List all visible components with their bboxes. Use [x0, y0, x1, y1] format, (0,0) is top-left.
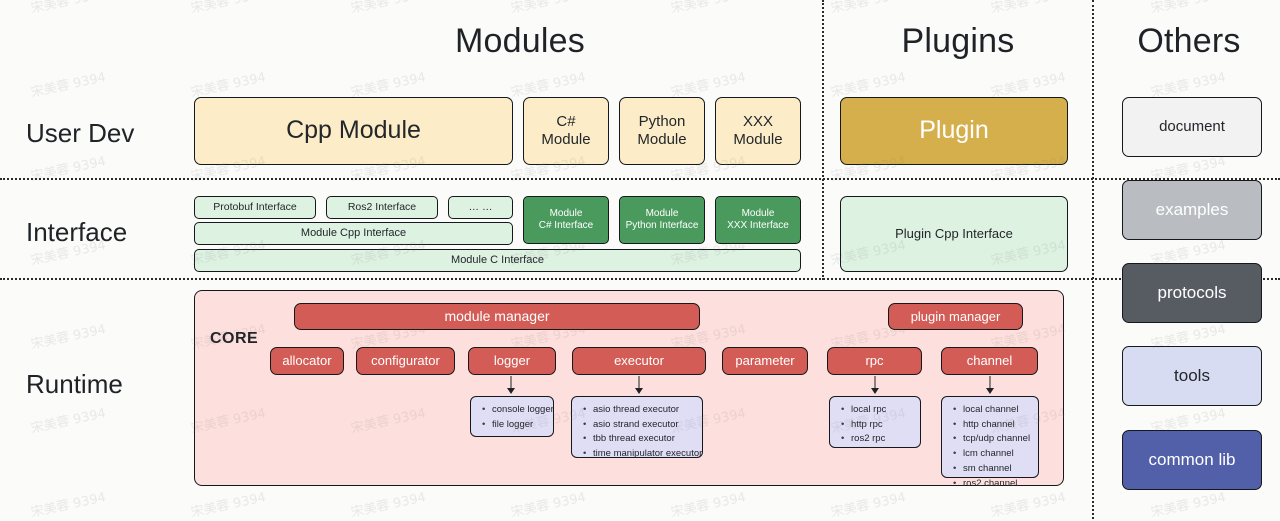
watermark-text: 宋美蓉 9394 [829, 66, 908, 100]
column-header-others: Others [1104, 22, 1274, 61]
watermark-text: 宋美蓉 9394 [349, 66, 428, 100]
watermark-text: 宋美蓉 9394 [189, 0, 268, 17]
row-label-interface: Interface [26, 217, 127, 248]
node-examples[interactable]: examples [1122, 180, 1262, 240]
watermark-text: 宋美蓉 9394 [29, 0, 108, 17]
list-logger-children: console loggerfile logger [470, 396, 554, 437]
node-plugin[interactable]: Plugin [840, 97, 1068, 165]
node-cpp-module[interactable]: Cpp Module [194, 97, 513, 165]
list-item: http channel [963, 418, 1030, 433]
watermark-text: 宋美蓉 9394 [509, 0, 588, 17]
list-item: console logger [492, 403, 545, 418]
node-configurator[interactable]: configurator [356, 347, 455, 375]
node-xxx-module[interactable]: XXX Module [715, 97, 801, 165]
list-item: lcm channel [963, 447, 1030, 462]
node-csharp-module[interactable]: C# Module [523, 97, 609, 165]
node-plugin-cpp-interface[interactable]: Plugin Cpp Interface [840, 196, 1068, 272]
column-header-plugins: Plugins [840, 22, 1076, 61]
list-item: asio thread executor [593, 403, 694, 418]
watermark-text: 宋美蓉 9394 [29, 486, 108, 520]
node-ros2-interface[interactable]: Ros2 Interface [326, 196, 438, 219]
node-plugin-manager[interactable]: plugin manager [888, 303, 1023, 330]
list-executor-children: asio thread executorasio strand executor… [571, 396, 703, 458]
watermark-text: 宋美蓉 9394 [669, 486, 748, 520]
node-rpc[interactable]: rpc [827, 347, 922, 375]
watermark-text: 宋美蓉 9394 [989, 486, 1068, 520]
node-python-module[interactable]: Python Module [619, 97, 705, 165]
list-item: ros2 rpc [851, 432, 912, 447]
watermark-text: 宋美蓉 9394 [1149, 66, 1228, 100]
list-rpc-children: local rpchttp rpcros2 rpc [829, 396, 921, 448]
list-item: tbb thread executor [593, 432, 694, 447]
watermark-text: 宋美蓉 9394 [829, 0, 908, 17]
node-module-cpp-interface[interactable]: Module Cpp Interface [194, 222, 513, 245]
node-document[interactable]: document [1122, 97, 1262, 157]
node-protobuf-interface[interactable]: Protobuf Interface [194, 196, 316, 219]
row-label-user-dev: User Dev [26, 118, 134, 149]
channel-children-list: local channelhttp channeltcp/udp channel… [950, 403, 1030, 491]
node-executor[interactable]: executor [572, 347, 706, 375]
list-item: time manipulator executor [593, 447, 694, 462]
list-channel-children: local channelhttp channeltcp/udp channel… [941, 396, 1039, 478]
node-protocols[interactable]: protocols [1122, 263, 1262, 323]
watermark-text: 宋美蓉 9394 [29, 318, 108, 352]
node-parameter[interactable]: parameter [722, 347, 808, 375]
list-item: local rpc [851, 403, 912, 418]
row-label-runtime: Runtime [26, 369, 123, 400]
watermark-text: 宋美蓉 9394 [509, 486, 588, 520]
watermark-text: 宋美蓉 9394 [29, 402, 108, 436]
watermark-text: 宋美蓉 9394 [189, 486, 268, 520]
watermark-text: 宋美蓉 9394 [1149, 0, 1228, 17]
node-more-interface[interactable]: … … [448, 196, 513, 219]
node-module-c-interface[interactable]: Module C Interface [194, 249, 801, 272]
executor-children-list: asio thread executorasio strand executor… [580, 403, 694, 462]
watermark-text: 宋美蓉 9394 [509, 66, 588, 100]
watermark-text: 宋美蓉 9394 [669, 66, 748, 100]
list-item: http rpc [851, 418, 912, 433]
diagram-canvas: 宋美蓉 9394宋美蓉 9394宋美蓉 9394宋美蓉 9394宋美蓉 9394… [0, 0, 1280, 519]
list-item: file logger [492, 418, 545, 433]
list-item: tcp/udp channel [963, 432, 1030, 447]
node-module-python-interface[interactable]: Module Python Interface [619, 196, 705, 244]
list-item: asio strand executor [593, 418, 694, 433]
divider-plugins-others [1092, 0, 1094, 519]
arrow-channel-down [981, 376, 999, 394]
rpc-children-list: local rpchttp rpcros2 rpc [838, 403, 912, 447]
divider-modules-plugins [822, 0, 824, 280]
logger-children-list: console loggerfile logger [479, 403, 545, 432]
watermark-text: 宋美蓉 9394 [349, 486, 428, 520]
arrow-executor-down [630, 376, 648, 394]
watermark-text: 宋美蓉 9394 [669, 0, 748, 17]
node-allocator[interactable]: allocator [270, 347, 344, 375]
node-tools[interactable]: tools [1122, 346, 1262, 406]
divider-userdev-interface [0, 178, 1280, 180]
watermark-text: 宋美蓉 9394 [1149, 486, 1228, 520]
watermark-text: 宋美蓉 9394 [829, 486, 908, 520]
watermark-text: 宋美蓉 9394 [349, 0, 428, 17]
divider-interface-runtime [0, 278, 1280, 280]
list-item: sm channel [963, 462, 1030, 477]
watermark-text: 宋美蓉 9394 [989, 0, 1068, 17]
watermark-text: 宋美蓉 9394 [989, 66, 1068, 100]
node-module-csharp-interface[interactable]: Module C# Interface [523, 196, 609, 244]
watermark-text: 宋美蓉 9394 [189, 66, 268, 100]
list-item: local channel [963, 403, 1030, 418]
node-logger[interactable]: logger [468, 347, 556, 375]
column-header-modules: Modules [300, 22, 740, 61]
arrow-logger-down [502, 376, 520, 394]
node-module-manager[interactable]: module manager [294, 303, 700, 330]
core-label: CORE [210, 330, 258, 348]
node-module-xxx-interface[interactable]: Module XXX Interface [715, 196, 801, 244]
list-item: ros2 channel [963, 477, 1030, 492]
arrow-rpc-down [866, 376, 884, 394]
node-channel[interactable]: channel [941, 347, 1038, 375]
watermark-text: 宋美蓉 9394 [29, 66, 108, 100]
node-common-lib[interactable]: common lib [1122, 430, 1262, 490]
